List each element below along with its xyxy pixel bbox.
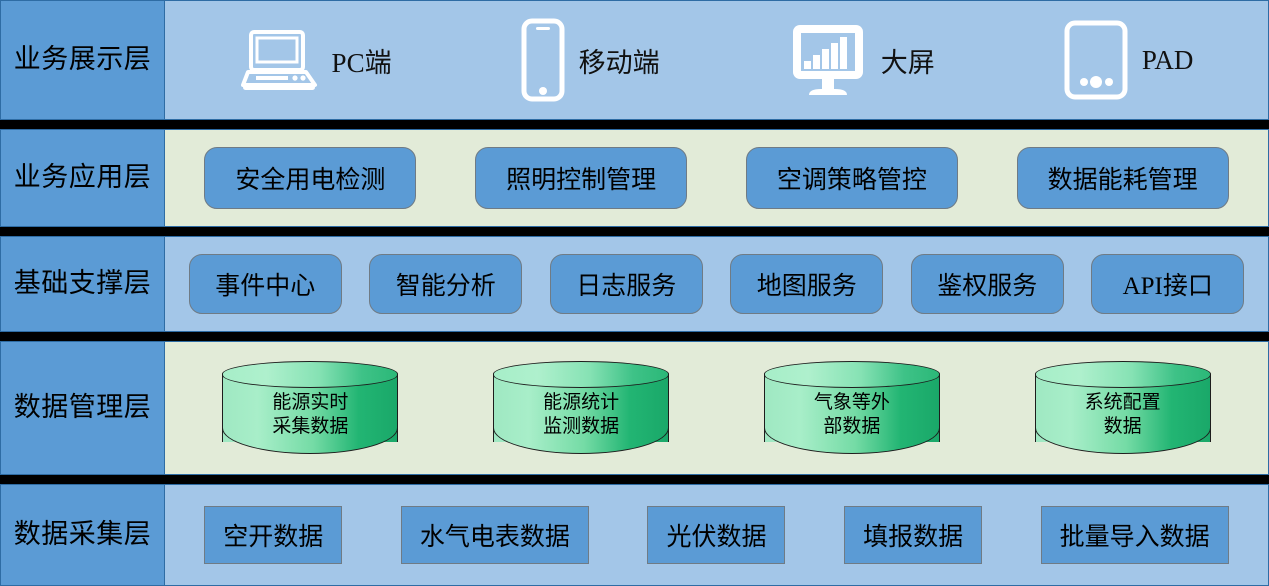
device-label: PC端 [332,41,392,80]
data-store-cylinder[interactable]: 系统配置 数据 [1035,361,1211,455]
cylinder-top [764,361,940,388]
laptop-icon [240,27,318,93]
layer-row: 数据管理层能源实时 采集数据能源统计 监测数据气象等外 部数据系统配置 数据 [0,341,1269,475]
tablet-icon [1064,20,1128,100]
module-box[interactable]: 空开数据 [204,506,342,564]
device-label: 大屏 [881,41,935,80]
module-box[interactable]: 鉴权服务 [911,254,1064,314]
module-box[interactable]: 光伏数据 [647,506,785,564]
module-box[interactable]: 填报数据 [844,506,982,564]
layer-label-2: 业务应用层 [0,129,165,227]
cylinder-top [493,361,669,388]
data-store-cylinder[interactable]: 气象等外 部数据 [764,361,940,455]
smartphone-icon [521,18,565,102]
layer-body-3: 事件中心智能分析日志服务地图服务鉴权服务API接口 [165,236,1269,332]
layer-label-3: 基础支撑层 [0,236,165,332]
layer-body-2: 安全用电检测照明控制管理空调策略管控数据能耗管理 [165,129,1269,227]
device-laptop[interactable]: PC端 [240,27,392,93]
layer-label-5: 数据采集层 [0,484,165,586]
laptop-icon [240,27,318,93]
layer-body-5: 空开数据水气电表数据光伏数据填报数据批量导入数据 [165,484,1269,586]
layer-row: 业务展示层 PC端 移动端 [0,0,1269,120]
layer-body-1: PC端 移动端 大屏 [165,0,1269,120]
module-box[interactable]: 空调策略管控 [746,147,958,209]
module-box[interactable]: 地图服务 [730,254,883,314]
monitor-chart-icon [789,23,867,97]
monitor-chart-icon [789,23,867,97]
cylinder-label: 气象等外 部数据 [764,391,940,440]
module-box[interactable]: 照明控制管理 [475,147,687,209]
cylinder-top [222,361,398,388]
module-box[interactable]: 水气电表数据 [401,506,589,564]
data-store-cylinder[interactable]: 能源实时 采集数据 [222,361,398,455]
module-box[interactable]: 安全用电检测 [204,147,416,209]
data-store-cylinder[interactable]: 能源统计 监测数据 [493,361,669,455]
module-box[interactable]: 日志服务 [550,254,703,314]
layer-label-1: 业务展示层 [0,0,165,120]
module-box[interactable]: API接口 [1091,254,1244,314]
module-box[interactable]: 智能分析 [369,254,522,314]
layer-row: 基础支撑层事件中心智能分析日志服务地图服务鉴权服务API接口 [0,236,1269,332]
device-smartphone[interactable]: 移动端 [521,18,660,102]
cylinder-top [1035,361,1211,388]
cylinder-label: 能源统计 监测数据 [493,391,669,440]
layer-row: 业务应用层安全用电检测照明控制管理空调策略管控数据能耗管理 [0,129,1269,227]
device-label: 移动端 [579,41,660,80]
layer-label-4: 数据管理层 [0,341,165,475]
layer-row: 数据采集层空开数据水气电表数据光伏数据填报数据批量导入数据 [0,484,1269,586]
layer-separator [0,227,1269,236]
layer-body-4: 能源实时 采集数据能源统计 监测数据气象等外 部数据系统配置 数据 [165,341,1269,475]
cylinder-label: 系统配置 数据 [1035,391,1211,440]
cylinder-label: 能源实时 采集数据 [222,391,398,440]
smartphone-icon [521,18,565,102]
device-monitor-chart[interactable]: 大屏 [789,23,935,97]
module-box[interactable]: 事件中心 [189,254,342,314]
device-label: PAD [1142,45,1194,76]
tablet-icon [1064,20,1128,100]
module-box[interactable]: 数据能耗管理 [1017,147,1229,209]
architecture-diagram: 业务展示层 PC端 移动端 [0,0,1269,586]
module-box[interactable]: 批量导入数据 [1041,506,1229,564]
layer-separator [0,120,1269,129]
device-tablet[interactable]: PAD [1064,20,1194,100]
layer-separator [0,475,1269,484]
layer-separator [0,332,1269,341]
